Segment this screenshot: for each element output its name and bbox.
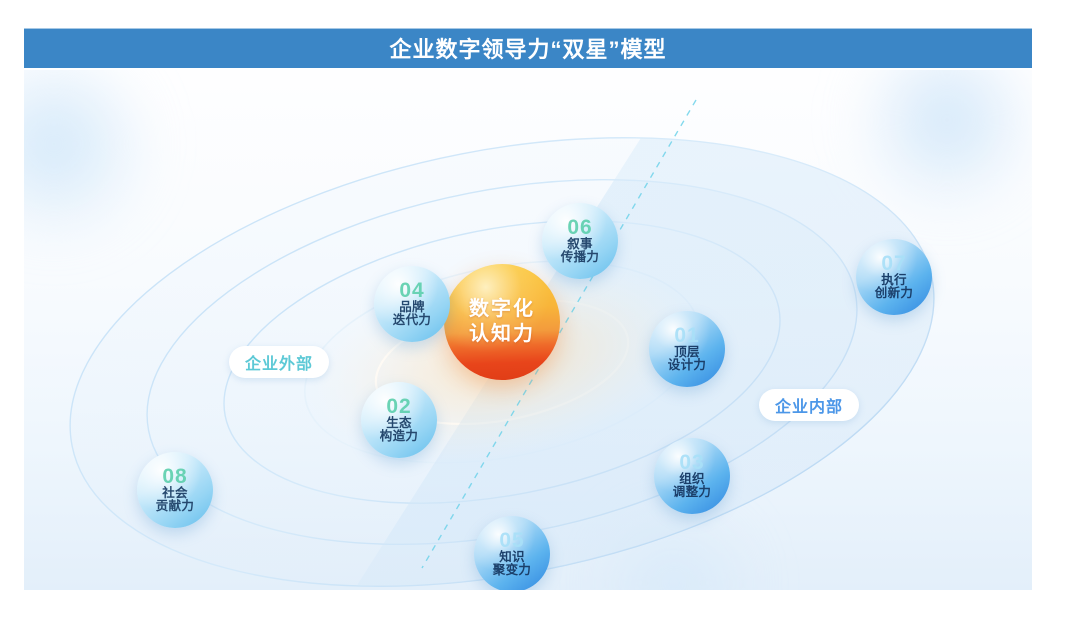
node-06-number: 06 [567, 217, 592, 240]
node-02-line-2: 构造力 [380, 430, 418, 444]
node-08-line-2: 贡献力 [156, 500, 194, 514]
node-06-line-2: 传播力 [561, 251, 599, 265]
node-03-organizational-adjustment[interactable]: 03 组织 调整力 [654, 438, 730, 514]
core-sun-line-1: 数字化 [469, 297, 535, 322]
node-01-number: 01 [674, 325, 699, 348]
node-04-number: 04 [399, 280, 424, 303]
node-08-social-contribution[interactable]: 08 社会 贡献力 [137, 452, 213, 528]
region-label-inner[interactable]: 企业内部 [759, 389, 859, 421]
node-04-brand-iteration[interactable]: 04 品牌 迭代力 [374, 266, 450, 342]
node-05-line-2: 聚变力 [493, 564, 531, 578]
region-label-inner-text: 企业内部 [775, 393, 843, 417]
core-sun-line-2: 认知力 [469, 322, 535, 347]
node-05-number: 05 [499, 530, 524, 553]
region-label-outer-text: 企业外部 [245, 350, 313, 374]
region-label-outer[interactable]: 企业外部 [229, 346, 329, 378]
node-01-line-2: 设计力 [668, 359, 706, 373]
slide-title-bar: 企业数字领导力“双星”模型 [24, 28, 1032, 68]
diagram-canvas: 数字化 认知力 企业外部 企业内部 01 顶层 设计力 02 生态 构造力 03… [24, 70, 1032, 590]
node-07-number: 07 [881, 253, 906, 276]
slide-root: 企业数字领导力“双星”模型 [0, 0, 1080, 622]
node-02-number: 02 [386, 396, 411, 419]
node-06-narrative-dissemination[interactable]: 06 叙事 传播力 [542, 203, 618, 279]
node-08-number: 08 [162, 466, 187, 489]
node-01-top-level-design[interactable]: 01 顶层 设计力 [649, 311, 725, 387]
node-07-execution-innovation[interactable]: 07 执行 创新力 [856, 239, 932, 315]
page-title: 企业数字领导力“双星”模型 [389, 32, 666, 64]
node-03-line-2: 调整力 [673, 486, 711, 500]
core-sun[interactable]: 数字化 认知力 [444, 264, 560, 380]
node-05-knowledge-fusion[interactable]: 05 知识 聚变力 [474, 516, 550, 590]
node-02-ecosystem-construction[interactable]: 02 生态 构造力 [361, 382, 437, 458]
node-07-line-2: 创新力 [875, 287, 913, 301]
node-04-line-2: 迭代力 [393, 314, 431, 328]
node-03-number: 03 [679, 452, 704, 475]
